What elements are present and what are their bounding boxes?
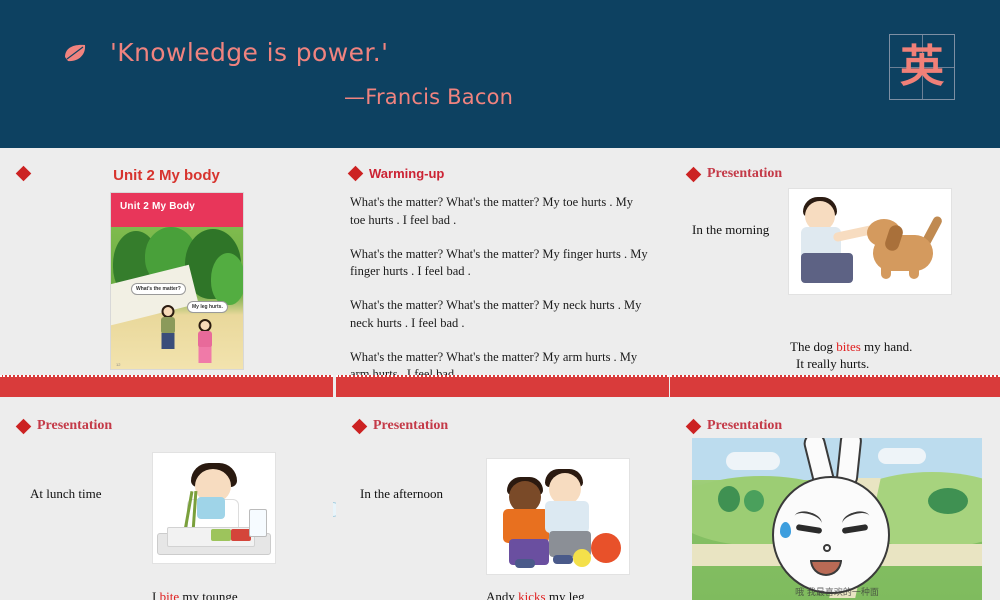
dog-leg [881,263,891,279]
section-label: Presentation [37,418,112,434]
section-label: Warming-up [369,166,444,181]
caption-highlight: bite [160,589,180,600]
diamond-bullet-icon [686,418,702,434]
girl-figure [193,319,217,363]
panel-morning[interactable]: Presentation In the morning [670,148,1000,375]
cloud-icon [878,448,926,464]
quote-row: 'Knowledge is power.' [62,38,388,67]
leaf-icon [62,43,88,63]
seal-stamp: 英 [889,34,955,100]
section-heading-video: Presentation [688,418,782,434]
panel-unit-cover[interactable]: Unit 2 My body Unit 2 My Body What's the… [0,148,333,375]
section-label: Presentation [707,166,782,182]
caption-text-before: Andy [486,589,518,600]
girl-legs [199,347,212,363]
caption-text-before: The dog [790,339,836,354]
boy-body [161,317,175,334]
rabbit-scene: 哦 我最喜欢的一种面 [692,438,982,600]
section-label: Presentation [707,418,782,434]
boy-legs [162,333,175,349]
dog-scene [789,189,951,294]
girl-body [198,331,212,348]
speech-bubble-left: What's the matter? [131,283,186,295]
divider-band-2 [336,375,669,397]
divider-band-1 [0,375,333,397]
book-page-number: 12 [116,362,120,367]
lunch-scene [153,453,275,563]
caption-morning-line1: The dog bites my hand. [790,338,912,356]
time-label-afternoon: In the afternoon [360,486,443,502]
panel-lunch[interactable]: Presentation At lunch time [0,400,333,600]
divider-band-3 [670,375,1000,397]
quote-text: 'Knowledge is power.' [110,38,388,67]
shoe-icon [515,559,535,568]
diamond-bullet-icon [352,418,368,434]
morning-boy-legs [801,253,853,283]
ball-icon [591,533,621,563]
caption-afternoon: Andy kicks my leg [486,588,585,600]
time-label-morning: In the morning [692,222,769,238]
time-label-lunch: At lunch time [30,486,102,502]
impact-spark-icon [573,549,591,567]
lunch-food-red [231,529,251,541]
panel-video[interactable]: Presentation [670,400,1000,600]
caption-highlight: bites [836,339,861,354]
panel-warming-up[interactable]: Warming-up What's the matter? What's the… [336,148,669,375]
tree-icon [211,253,244,305]
section-heading-lunch: Presentation [18,418,112,434]
caption-text-after: my leg [546,589,585,600]
column-3: Presentation In the morning [670,148,1000,600]
column-2: Warming-up What's the matter? What's the… [336,148,669,600]
caption-highlight: kicks [518,589,545,600]
caption-lunch: I bite my tounge [152,588,238,600]
paragraph: What's the matter? What's the matter? My… [350,246,650,282]
tree-icon [718,486,740,512]
column-1: Unit 2 My body Unit 2 My Body What's the… [0,148,333,600]
book-scene: What's the matter? My leg hurts. 1 [111,227,243,369]
lunch-food-green [211,529,231,541]
rabbit-nose [823,544,831,552]
soccer-scene [487,459,629,574]
header-banner: 'Knowledge is power.' —Francis Bacon 英 [0,0,1000,148]
boy-figure [155,305,181,353]
afternoon-image [486,458,630,575]
caption-text-after: my tounge [179,589,238,600]
unit-title: Unit 2 My body [0,167,333,184]
shoe-icon [553,555,573,564]
video-thumbnail[interactable]: 哦 我最喜欢的一种面 [692,438,982,600]
paragraph: What's the matter? What's the matter? My… [350,297,650,333]
boy1-body [503,509,549,543]
section-heading-warming-up: Warming-up [350,166,444,181]
paragraph: What's the matter? What's the matter? My… [350,349,650,376]
section-heading-morning: Presentation [688,166,782,182]
cloud-icon [726,452,780,470]
caption-text-before: I [152,589,160,600]
caption-morning-line2: It really hurts. [796,355,869,373]
slide-root: 'Knowledge is power.' —Francis Bacon 英 U… [0,0,1000,600]
diamond-bullet-icon [348,166,364,182]
panel-afternoon[interactable]: Presentation In the afternoon [336,400,669,600]
lunch-glass [249,509,267,537]
section-heading-afternoon: Presentation [354,418,448,434]
tree-icon [744,490,764,512]
paragraph: What's the matter? What's the matter? My… [350,194,650,230]
tree-icon [928,488,968,514]
diamond-bullet-icon [16,418,32,434]
lunch-boy-bib [197,497,225,519]
caption-text-after: my hand. [861,339,913,354]
morning-image [788,188,952,295]
section-label: Presentation [373,418,448,434]
diamond-bullet-icon [686,166,702,182]
quote-author: —Francis Bacon [344,85,513,109]
warming-up-paragraphs: What's the matter? What's the matter? My… [350,194,650,375]
speech-bubble-right: My leg hurts. [187,301,228,313]
textbook-cover-image: Unit 2 My Body What's the matter? My leg… [110,192,244,370]
lunch-image [152,452,276,564]
video-subtitle: 哦 我最喜欢的一种面 [692,585,982,598]
panel-grid: Unit 2 My body Unit 2 My Body What's the… [0,148,1000,600]
boy2-body [545,501,589,533]
tear-drop-icon [780,522,791,538]
dog-leg [909,263,919,279]
seal-character: 英 [890,35,954,99]
book-title: Unit 2 My Body [120,201,195,212]
